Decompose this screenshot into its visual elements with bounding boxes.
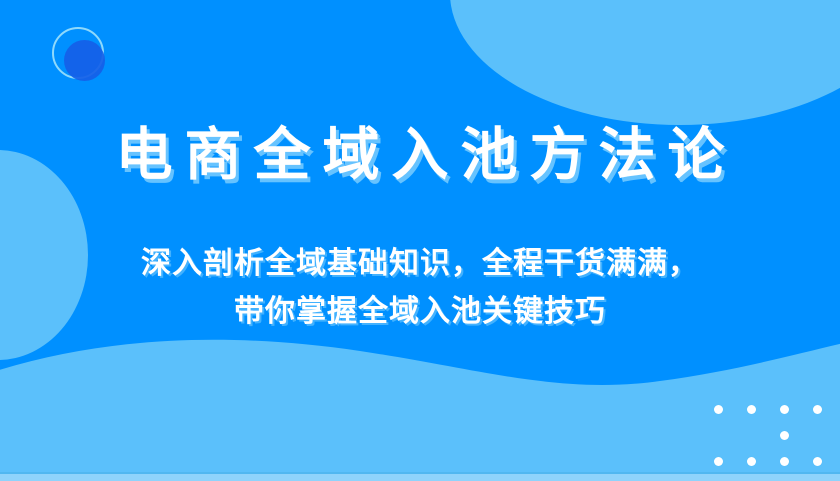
banner-subtitle: 深入剖析全域基础知识，全程干货满满， 带你掌握全域入池关键技巧 xyxy=(141,240,699,335)
banner-text-layer: 电商全域入池方法论 深入剖析全域基础知识，全程干货满满， 带你掌握全域入池关键技… xyxy=(0,0,840,481)
banner-subtitle-line-1: 深入剖析全域基础知识，全程干货满满， xyxy=(141,240,699,287)
banner-subtitle-line-2: 带你掌握全域入池关键技巧 xyxy=(141,288,699,335)
course-banner: 电商全域入池方法论 深入剖析全域基础知识，全程干货满满， 带你掌握全域入池关键技… xyxy=(0,0,840,481)
banner-title: 电商全域入池方法论 xyxy=(104,126,737,184)
